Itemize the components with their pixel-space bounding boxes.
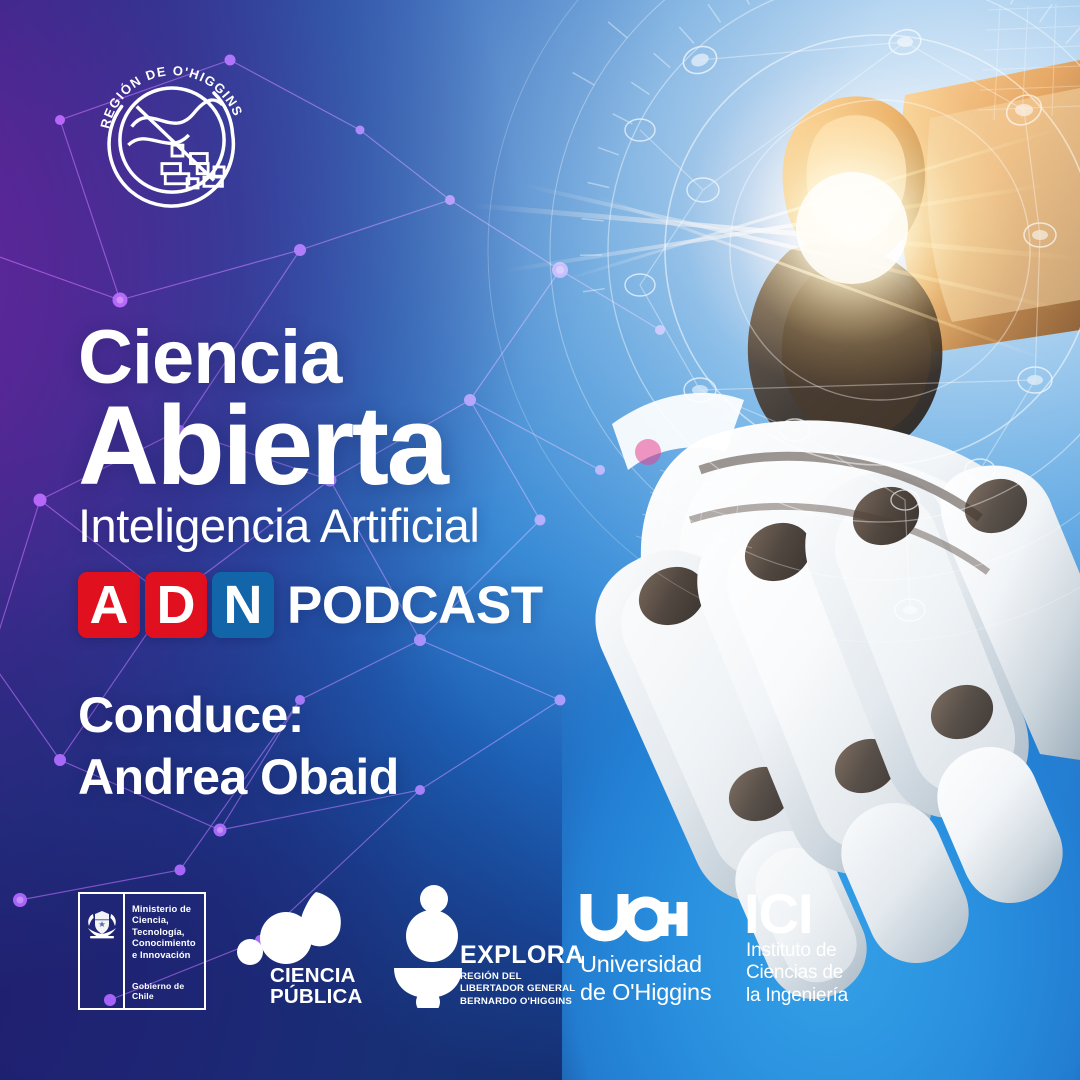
region-logo-curved-text: REGIÓN DE O'HIGGINS <box>97 63 246 130</box>
podcast-promo-poster: REGIÓN DE O'HIGGINS <box>0 0 1080 1080</box>
sponsor-ciencia-publica: CIENCIAPÚBLICA <box>230 886 380 1008</box>
host-name: Andrea Obaid <box>78 746 399 808</box>
explora-mark <box>388 884 468 1008</box>
svg-text:REGIÓN DE O'HIGGINS: REGIÓN DE O'HIGGINS <box>97 63 246 130</box>
ici-monogram: ICI <box>744 886 813 942</box>
adn-tile-a: A <box>78 572 140 638</box>
host-credit: Conduce: Andrea Obaid <box>78 684 399 808</box>
sponsor-instituto-ciencias-ingenieria: ICI Instituto de Ciencias de la Ingenier… <box>738 886 888 1008</box>
chile-coat-of-arms-icon <box>80 894 125 1008</box>
ciencia-publica-text: CIENCIAPÚBLICA <box>270 965 363 1008</box>
adn-podcast-logo: A D N PODCAST <box>78 572 543 638</box>
explora-region-text: REGIÓN DEL LIBERTADOR GENERAL BERNARDO O… <box>460 971 575 1008</box>
host-label: Conduce: <box>78 684 399 746</box>
adn-tile-d: D <box>145 572 207 638</box>
sponsor-universidad-de-ohiggins: Universidadde O'Higgins <box>578 888 726 1006</box>
uoh-monogram-icon <box>578 888 688 944</box>
adn-tile-n: N <box>212 572 274 638</box>
gobierno-de-chile-label: Gobierno de Chile <box>132 981 199 1001</box>
region-de-ohiggins-logo: REGIÓN DE O'HIGGINS <box>88 46 256 214</box>
headline-line-2: Abierta <box>78 393 718 498</box>
headline-subtitle: Inteligencia Artificial <box>78 502 718 551</box>
sponsor-explora: EXPLORA REGIÓN DEL LIBERTADOR GENERAL BE… <box>388 884 578 1008</box>
explora-name: EXPLORA <box>460 941 584 970</box>
uoh-name: Universidadde O'Higgins <box>580 950 711 1006</box>
adn-letter-tiles: A D N <box>78 572 274 638</box>
sponsor-logo-strip: Ministerio de Ciencia, Tecnología, Conoc… <box>70 884 830 1012</box>
sponsor-ministerio-de-ciencia: Ministerio de Ciencia, Tecnología, Conoc… <box>78 892 206 1010</box>
ici-name: Instituto de Ciencias de la Ingeniería <box>746 940 848 1008</box>
podcast-wordmark: PODCAST <box>287 575 543 636</box>
headline-block: Ciencia Abierta Inteligencia Artificial <box>78 322 718 551</box>
ministerio-name: Ministerio de Ciencia, Tecnología, Conoc… <box>132 903 199 960</box>
